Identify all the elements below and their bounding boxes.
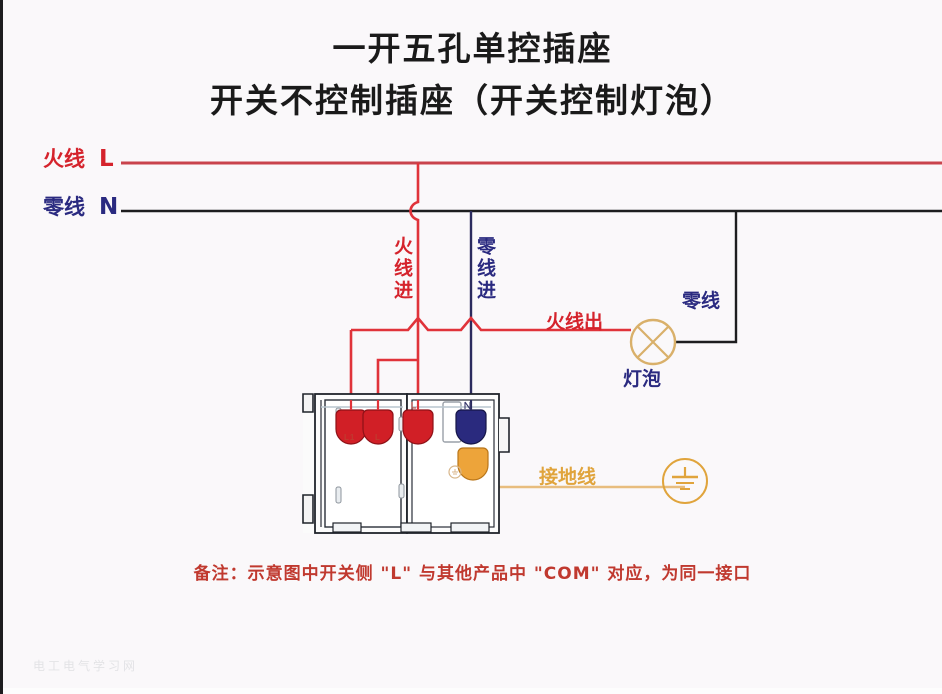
bottom-bar bbox=[3, 688, 942, 694]
switch-socket-device bbox=[303, 394, 509, 533]
neutral-bus-label-code: N bbox=[99, 196, 118, 219]
live-bus-label-cn: 火线 bbox=[43, 149, 85, 170]
neutral-return-label: 零线 bbox=[682, 292, 720, 311]
wiring-diagram-canvas: 一开五孔单控插座 开关不控制插座（开关控制灯泡） bbox=[0, 0, 942, 694]
footnote-text: 备注：示意图中开关侧 "L" 与其他产品中 "COM" 对应，为同一接口 bbox=[3, 566, 942, 583]
ground-label: 接地线 bbox=[539, 468, 596, 487]
schematic-svg bbox=[3, 0, 942, 694]
watermark-text: 电工电气学习网 bbox=[33, 660, 138, 672]
socket-terminal-live bbox=[403, 410, 433, 444]
switch-terminal-l-label: L bbox=[375, 434, 381, 442]
bulb-symbol bbox=[631, 320, 675, 364]
switch-terminal-l1-label: L1 bbox=[344, 434, 355, 442]
neutral-bus-label-cn: 零线 bbox=[43, 197, 85, 218]
socket-terminal-ground bbox=[458, 448, 488, 480]
live-bus-label-code: L bbox=[99, 148, 114, 171]
socket-terminal-neutral bbox=[456, 410, 486, 444]
live-out-label: 火线出 bbox=[546, 313, 603, 332]
ground-symbol bbox=[663, 459, 707, 503]
neutral-return-wire bbox=[675, 211, 736, 342]
neutral-in-label: 零线进 bbox=[474, 236, 494, 302]
bulb-label: 灯泡 bbox=[623, 370, 661, 389]
live-in-label: 火线进 bbox=[391, 236, 411, 302]
